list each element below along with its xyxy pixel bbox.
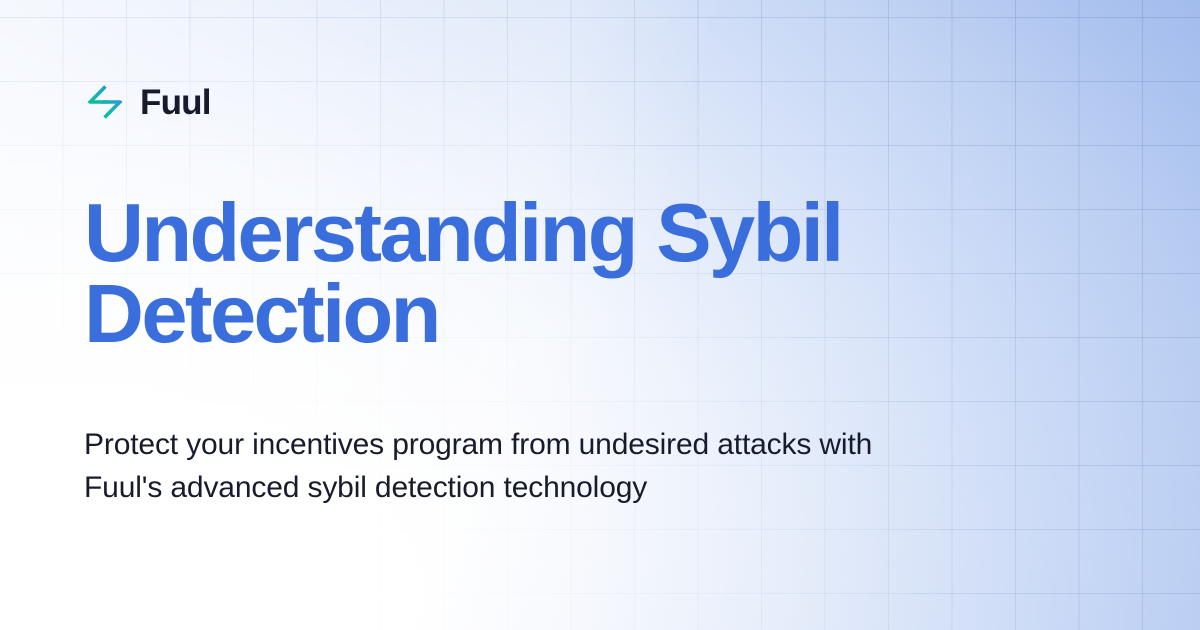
- page-title: Understanding Sybil Detection: [84, 193, 1044, 354]
- og-preview-card: Fuul Understanding Sybil Detection Prote…: [0, 0, 1200, 630]
- card-content: Fuul Understanding Sybil Detection Prote…: [0, 0, 1200, 630]
- brand-lockup: Fuul: [84, 81, 211, 123]
- fuul-lightning-bolt-icon: [84, 81, 126, 123]
- brand-name: Fuul: [140, 85, 211, 120]
- page-subtitle: Protect your incentives program from und…: [84, 424, 874, 509]
